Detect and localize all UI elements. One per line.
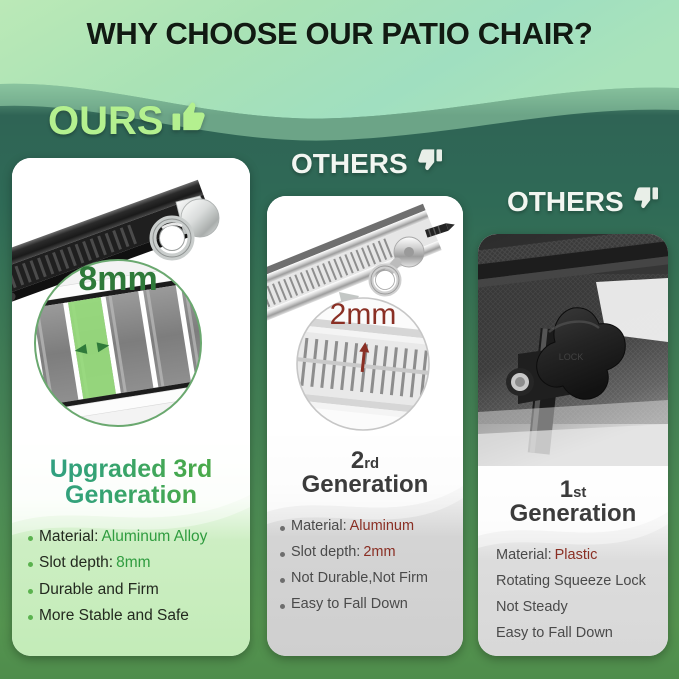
list-item: Rotating Squeeze Lock — [496, 573, 668, 590]
bullet-value: Aluminum — [350, 518, 414, 534]
bullet-label: Durable and Firm — [39, 581, 159, 599]
card-other-1-title-num: 2 — [351, 447, 364, 474]
thumbs-down-icon — [414, 145, 444, 182]
product-photo-ours-svg: 8mm — [12, 158, 250, 443]
card-other-2-title-line2: Generation — [478, 502, 668, 526]
bullet-dot — [280, 604, 285, 609]
list-item: Material:Aluminum — [280, 518, 463, 535]
card-other-1-title: 2rd Generation — [267, 449, 463, 498]
card-other-1-bullets: Material:Aluminum Slot depth:2mm Not Dur… — [267, 518, 463, 622]
bullet-value: Plastic — [555, 547, 598, 563]
bullet-value: Aluminum Alloy — [101, 528, 207, 545]
bullet-dot — [280, 552, 285, 557]
section-label-other-1: OTHERS — [291, 145, 444, 182]
list-item: Easy to Fall Down — [280, 596, 463, 613]
bullet-dot — [280, 526, 285, 531]
card-other-2-title-num: 1 — [560, 476, 573, 503]
product-photo-other-1-svg: 2mm — [267, 196, 463, 436]
list-item: More Stable and Safe — [28, 607, 250, 625]
list-item: Material:Plastic — [496, 547, 668, 564]
product-photo-other-2-svg: LOCK — [478, 234, 668, 466]
card-ours-title: Upgraded 3rd Generation — [12, 457, 250, 508]
list-item: Not Durable,Not Firm — [280, 570, 463, 587]
card-other-2-bullets: Material:Plastic Rotating Squeeze Lock N… — [478, 547, 668, 651]
product-photo-other-2: LOCK — [478, 234, 668, 466]
card-other-2-info: 1st Generation Material:Plastic Rotating… — [478, 466, 668, 656]
section-label-other-2-text: OTHERS — [507, 186, 624, 218]
bullet-label: Material: — [39, 528, 98, 545]
svg-text:LOCK: LOCK — [559, 352, 584, 362]
bullet-label: Slot depth: — [291, 544, 360, 560]
list-item: Easy to Fall Down — [496, 625, 668, 642]
bullet-value: 2mm — [363, 544, 395, 560]
card-other-2[interactable]: LOCK 1st Generation Material:Plastic — [478, 234, 668, 656]
list-item: Slot depth:8mm — [28, 554, 250, 572]
bullet-label: Material: — [496, 547, 552, 563]
bullet-label: Slot depth: — [39, 554, 113, 571]
bullet-dot — [28, 589, 33, 594]
card-other-1-title-sup: rd — [364, 456, 379, 472]
card-other-1-info: 2rd Generation Material:Aluminum Slot de… — [267, 436, 463, 656]
card-ours[interactable]: 8mm Upgraded 3rd Generation Material:Alu… — [12, 158, 250, 656]
product-photo-ours: 8mm — [12, 158, 250, 443]
infographic-canvas: WHY CHOOSE OUR PATIO CHAIR? OURS OTHERS … — [0, 0, 679, 679]
list-item: Slot depth:2mm — [280, 544, 463, 561]
page-title: WHY CHOOSE OUR PATIO CHAIR? — [0, 16, 679, 52]
card-ours-title-line1: Upgraded 3rd — [12, 457, 250, 483]
card-ours-bullets: Material:Aluminum Alloy Slot depth:8mm D… — [12, 528, 250, 633]
card-ours-info: Upgraded 3rd Generation Material:Aluminu… — [12, 443, 250, 656]
card-other-1[interactable]: 2mm 2rd Generation Material:Aluminum Slo… — [267, 196, 463, 656]
bullet-label: Rotating Squeeze Lock — [496, 573, 646, 590]
bullet-label: More Stable and Safe — [39, 607, 189, 625]
thumbs-up-icon — [170, 96, 210, 146]
photo-caption-other-1: 2mm — [330, 298, 397, 331]
section-label-other-2: OTHERS — [507, 183, 660, 220]
card-other-2-title: 1st Generation — [478, 478, 668, 527]
list-item: Material:Aluminum Alloy — [28, 528, 250, 546]
bullet-label: Easy to Fall Down — [496, 625, 613, 642]
section-label-ours: OURS — [48, 96, 210, 146]
product-photo-other-1: 2mm — [267, 196, 463, 436]
section-label-other-1-text: OTHERS — [291, 148, 408, 180]
card-ours-title-line2: Generation — [12, 483, 250, 509]
bullet-dot — [28, 536, 33, 541]
card-other-2-title-sup: st — [573, 485, 586, 501]
bullet-dot — [28, 562, 33, 567]
bullet-label: Not Durable,Not Firm — [291, 570, 428, 587]
bullet-value: 8mm — [116, 554, 150, 571]
bullet-label: Not Steady — [496, 599, 568, 616]
bullet-label: Material: — [291, 518, 347, 534]
photo-caption-ours: 8mm — [78, 260, 157, 298]
list-item: Durable and Firm — [28, 581, 250, 599]
bullet-dot — [28, 615, 33, 620]
list-item: Not Steady — [496, 599, 668, 616]
card-other-1-title-line2: Generation — [267, 473, 463, 497]
thumbs-down-icon — [630, 183, 660, 220]
bullet-dot — [280, 578, 285, 583]
section-label-ours-text: OURS — [48, 99, 164, 144]
bullet-label: Easy to Fall Down — [291, 596, 408, 613]
